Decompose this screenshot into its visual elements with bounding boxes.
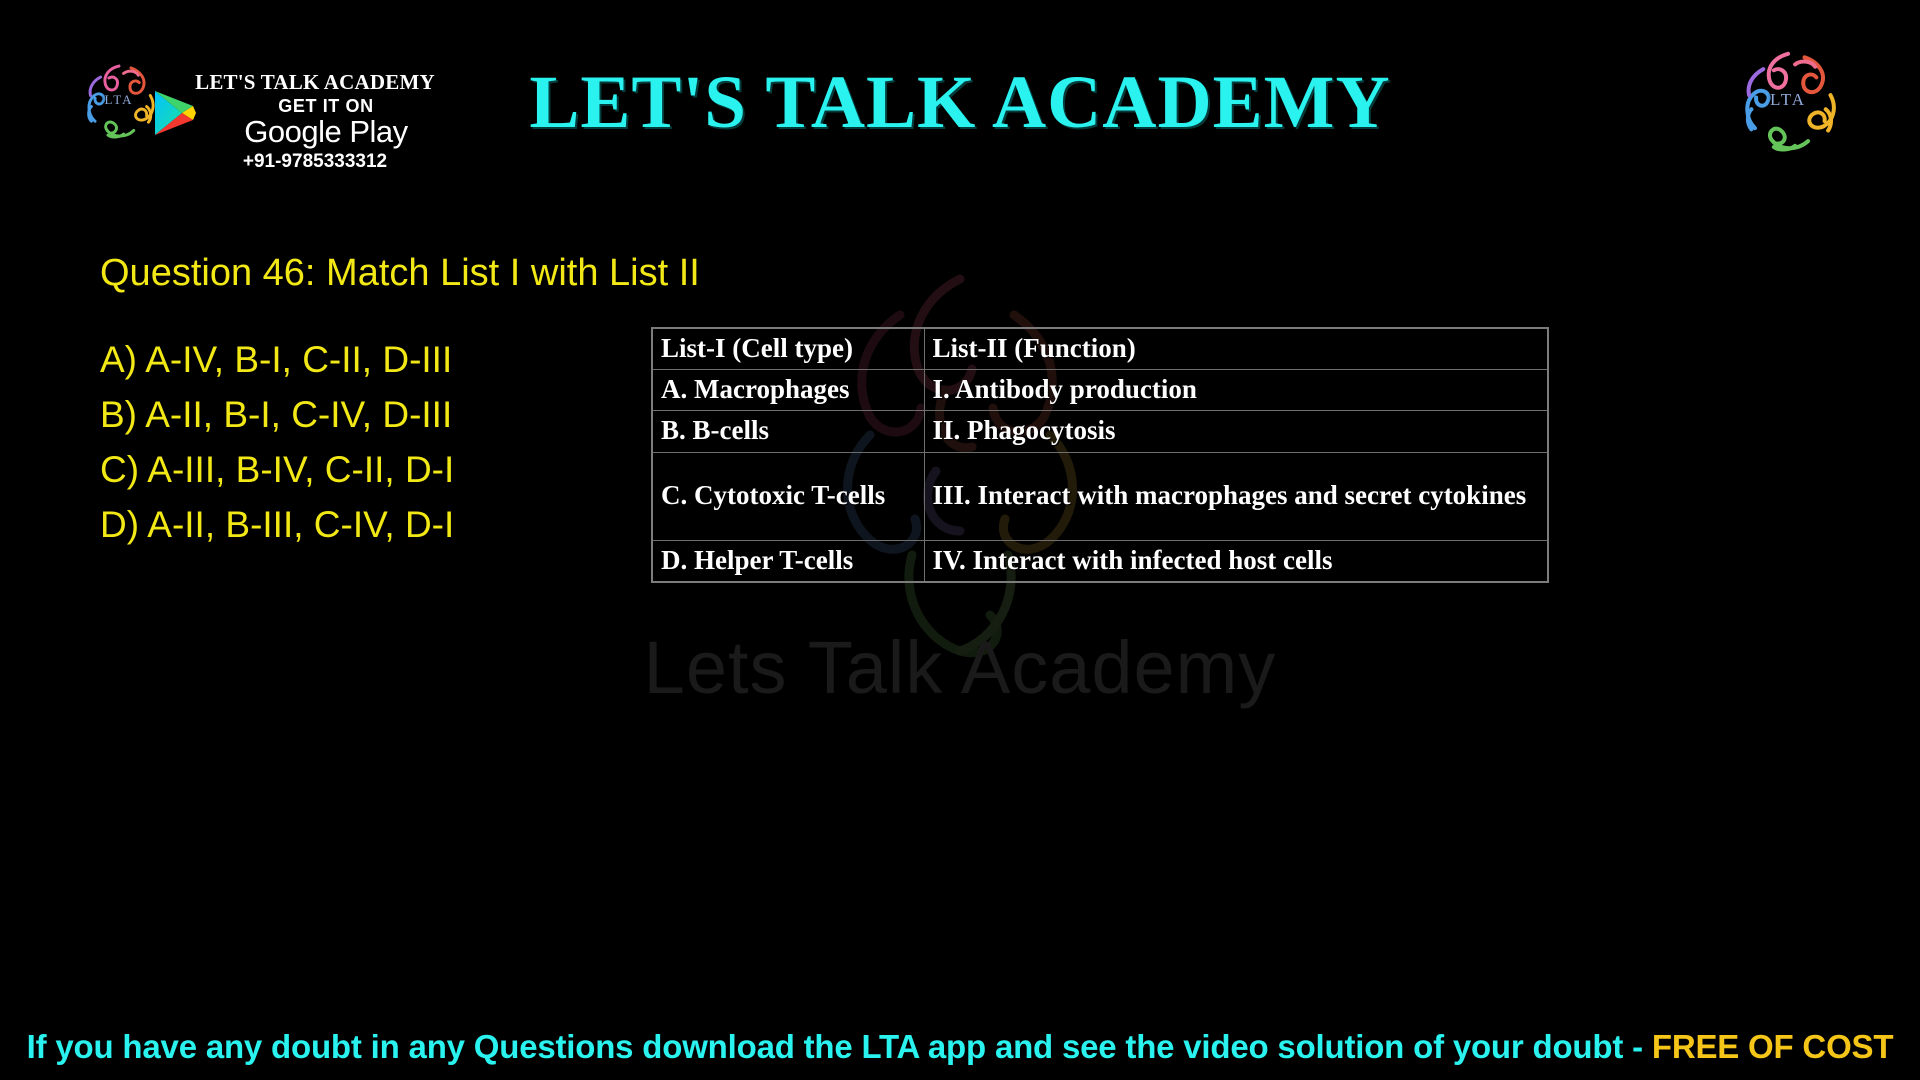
table-header-list-ii: List-II (Function) [924,328,1548,370]
table-row: C. Cytotoxic T-cells III. Interact with … [652,452,1548,540]
question-title: Question 46: Match List I with List II [100,252,700,295]
cell-list-i-b: B. B-cells [652,411,924,452]
cell-list-i-a: A. Macrophages [652,370,924,411]
lta-protein-ribbon-logo-right-icon: LTA [1718,42,1858,160]
phone-number: +91-9785333312 [150,151,480,173]
option-d[interactable]: D) A-II, B-III, C-IV, D-I [100,497,454,552]
table-header-row: List-I (Cell type) List-II (Function) [652,328,1548,370]
footer-text: If you have any doubt in any Questions d… [27,1028,1652,1065]
cell-list-i-c: C. Cytotoxic T-cells [652,452,924,540]
table-row: D. Helper T-cells IV. Interact with infe… [652,540,1548,582]
table-row: B. B-cells II. Phagocytosis [652,411,1548,452]
option-b[interactable]: B) A-II, B-I, C-IV, D-III [100,387,454,442]
table-row: A. Macrophages I. Antibody production [652,370,1548,411]
match-list-table: List-I (Cell type) List-II (Function) A.… [651,327,1549,583]
logo-text-right: LTA [1718,90,1858,110]
header: LTA LET'S TALK ACADEMY GET IT ON Google … [0,0,1920,190]
table-header-list-i: List-I (Cell type) [652,328,924,370]
option-c[interactable]: C) A-III, B-IV, C-II, D-I [100,442,454,497]
cell-list-ii-ii: II. Phagocytosis [924,411,1548,452]
footer-free-of-cost: FREE OF COST [1652,1028,1893,1065]
watermark-text: Lets Talk Academy [0,625,1920,710]
page-title: LET'S TALK ACADEMY [0,60,1920,146]
cell-list-i-d: D. Helper T-cells [652,540,924,582]
cell-list-ii-i: I. Antibody production [924,370,1548,411]
footer-banner: If you have any doubt in any Questions d… [0,1028,1920,1066]
options-list: A) A-IV, B-I, C-II, D-III B) A-II, B-I, … [100,332,454,552]
cell-list-ii-iv: IV. Interact with infected host cells [924,540,1548,582]
slide-root: LTA LET'S TALK ACADEMY GET IT ON Google … [0,0,1920,1080]
cell-list-ii-iii: III. Interact with macrophages and secre… [924,452,1548,540]
option-a[interactable]: A) A-IV, B-I, C-II, D-III [100,332,454,387]
